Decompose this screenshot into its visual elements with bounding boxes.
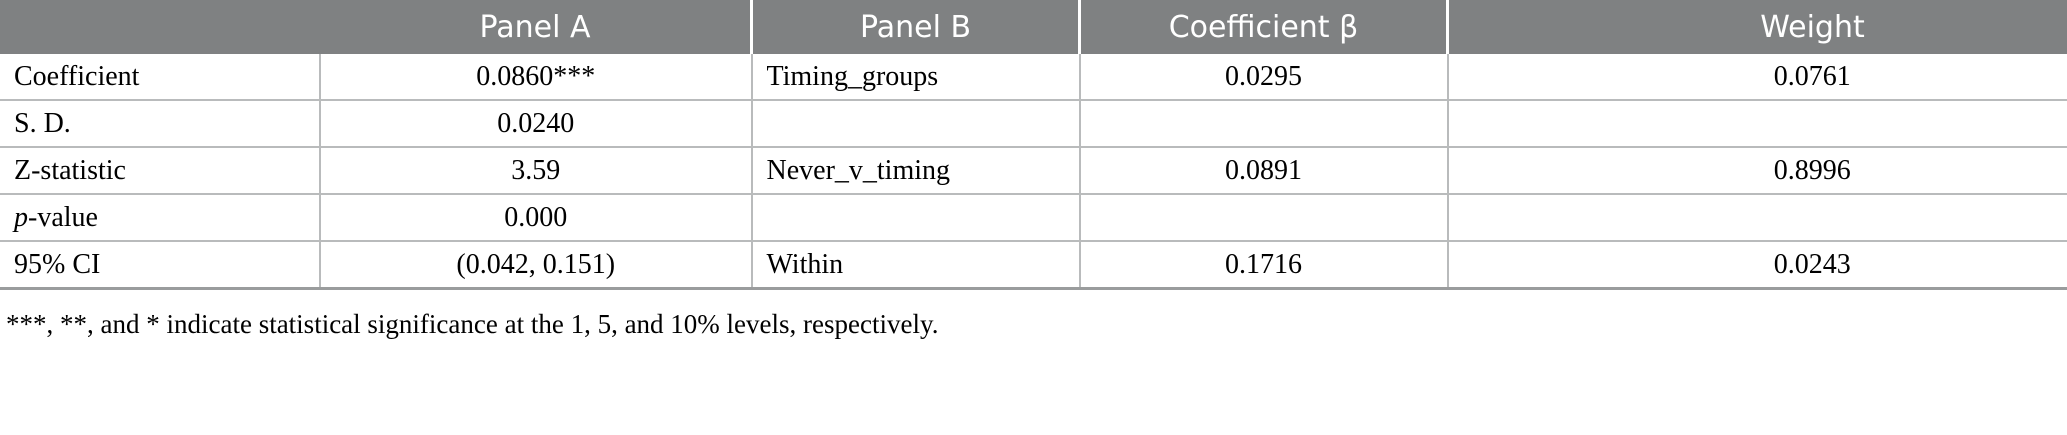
p-value-label-rest: -value xyxy=(28,202,98,233)
cell-coefficient-value xyxy=(1080,194,1448,241)
cell-panel-a-label: Coefficient xyxy=(0,54,320,100)
cell-panel-a-value: (0.042, 0.151) xyxy=(320,241,752,289)
cell-panel-a-value: 3.59 xyxy=(320,147,752,194)
cell-panel-a-label: 95% CI xyxy=(0,241,320,289)
results-table: Panel A Panel B Coefficient β Weight Coe… xyxy=(0,0,2067,290)
cell-panel-b-label: Within xyxy=(752,241,1080,289)
cell-coefficient-value xyxy=(1080,100,1448,147)
cell-coefficient-value: 0.0295 xyxy=(1080,54,1448,100)
table-row: Z-statistic 3.59 Never_v_timing 0.0891 0… xyxy=(0,147,2067,194)
table-body: Coefficient 0.0860*** Timing_groups 0.02… xyxy=(0,54,2067,289)
cell-weight-value xyxy=(1448,100,2067,147)
cell-panel-a-label: Z-statistic xyxy=(0,147,320,194)
table-row: Coefficient 0.0860*** Timing_groups 0.02… xyxy=(0,54,2067,100)
cell-panel-b-label xyxy=(752,100,1080,147)
header-cell-weight: Weight xyxy=(1448,0,2067,54)
table-footnote: ***, **, and * indicate statistical sign… xyxy=(0,290,2067,342)
cell-panel-a-value: 0.0240 xyxy=(320,100,752,147)
cell-panel-b-label: Timing_groups xyxy=(752,54,1080,100)
header-cell-coefficient-beta: Coefficient β xyxy=(1080,0,1448,54)
table-row: p-value 0.000 xyxy=(0,194,2067,241)
header-row: Panel A Panel B Coefficient β Weight xyxy=(0,0,2067,54)
cell-panel-a-label: S. D. xyxy=(0,100,320,147)
table-header: Panel A Panel B Coefficient β Weight xyxy=(0,0,2067,54)
header-cell-blank xyxy=(0,0,320,54)
header-cell-panel-a: Panel A xyxy=(320,0,752,54)
cell-panel-a-value: 0.000 xyxy=(320,194,752,241)
cell-panel-a-value: 0.0860*** xyxy=(320,54,752,100)
table-row: S. D. 0.0240 xyxy=(0,100,2067,147)
cell-panel-b-label: Never_v_timing xyxy=(752,147,1080,194)
cell-panel-b-label xyxy=(752,194,1080,241)
cell-weight-value: 0.0243 xyxy=(1448,241,2067,289)
header-cell-panel-b: Panel B xyxy=(752,0,1080,54)
table-row: 95% CI (0.042, 0.151) Within 0.1716 0.02… xyxy=(0,241,2067,289)
cell-weight-value: 0.8996 xyxy=(1448,147,2067,194)
p-value-italic-p: p xyxy=(14,202,28,233)
results-table-container: Panel A Panel B Coefficient β Weight Coe… xyxy=(0,0,2067,342)
cell-weight-value xyxy=(1448,194,2067,241)
cell-coefficient-value: 0.0891 xyxy=(1080,147,1448,194)
cell-weight-value: 0.0761 xyxy=(1448,54,2067,100)
cell-coefficient-value: 0.1716 xyxy=(1080,241,1448,289)
cell-panel-a-label: p-value xyxy=(0,194,320,241)
